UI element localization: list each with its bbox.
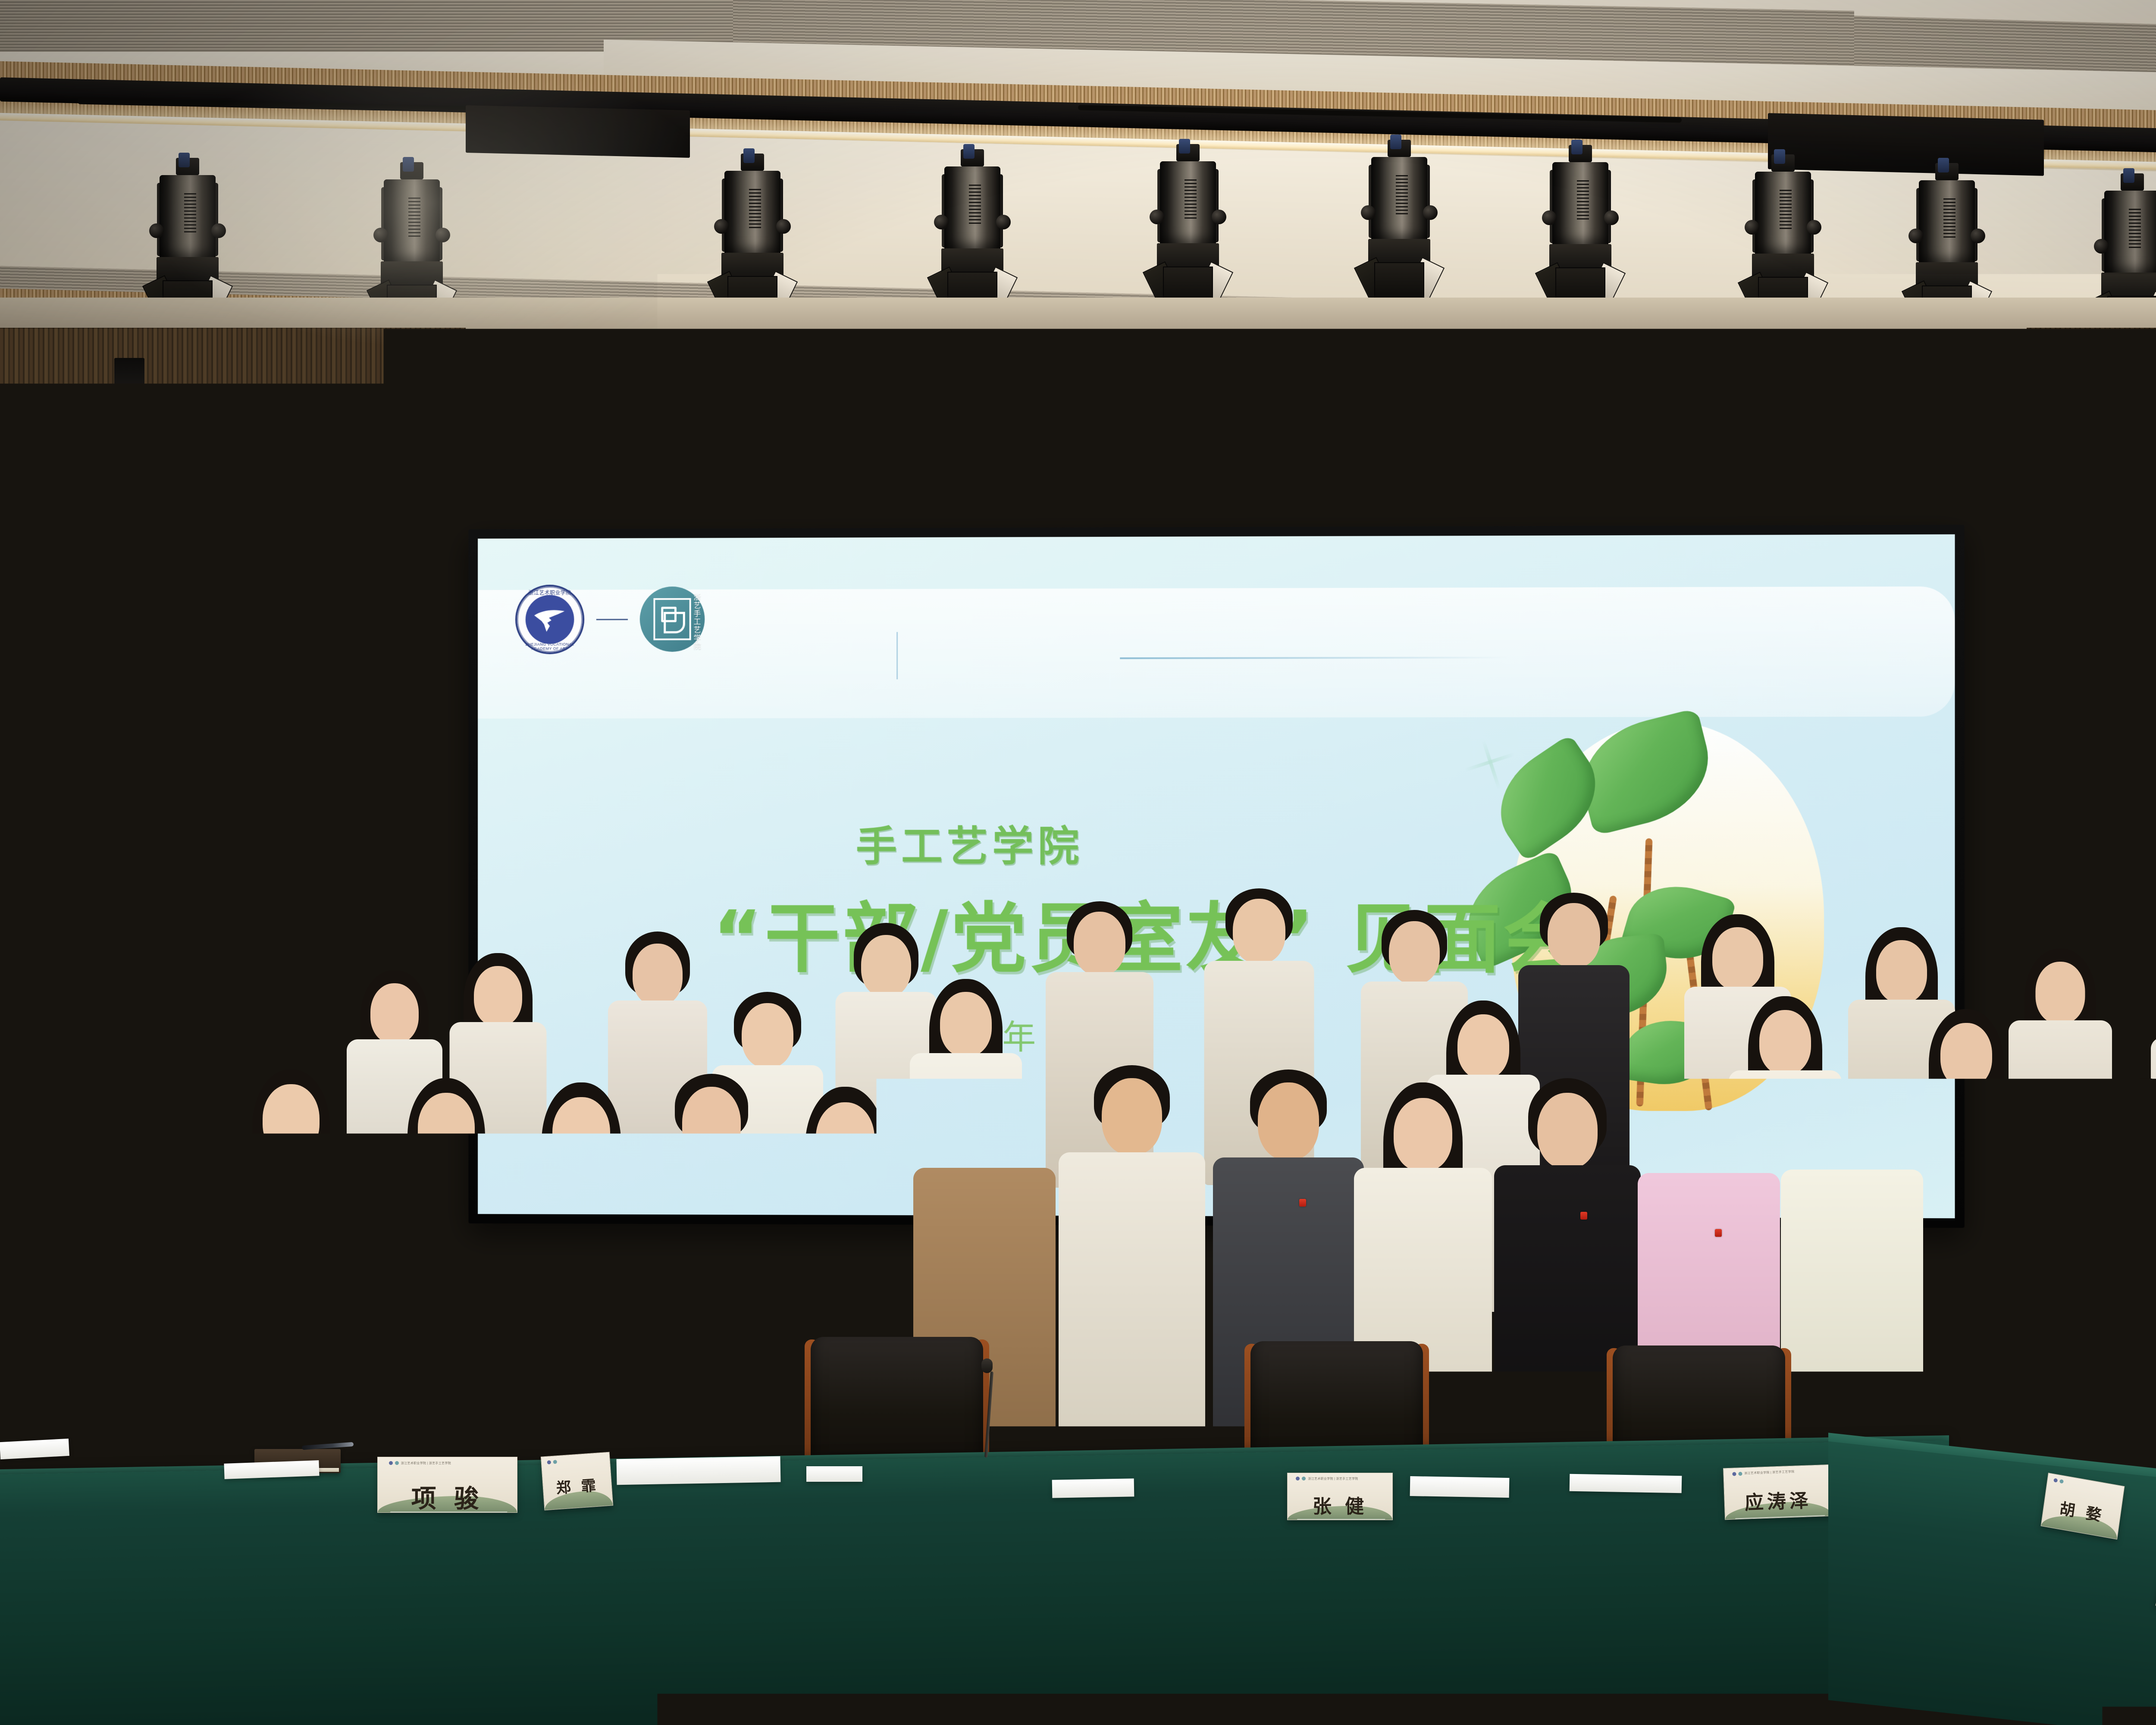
document-sheet[interactable] [806,1466,862,1482]
power-plug-icon [1774,149,1785,164]
party-emblem-pin [1580,1212,1587,1220]
nameplate: 浙江艺术职业学院 | 浙艺手工艺学院 项 骏 [377,1457,517,1513]
handicrafts-logo-icon [1302,1477,1306,1480]
power-plug-icon [179,153,190,167]
document-sheet[interactable] [0,1439,69,1459]
speaker-top [65,388,194,440]
logo-connector [596,619,628,620]
light-tilt-knob [1604,210,1619,225]
nameplate-org: 浙江艺术职业学院 | 浙艺手工艺学院 [401,1461,451,1465]
light-tilt-knob [1423,205,1438,220]
light-body [724,171,780,255]
nameplate-logo-row: 浙江艺术职业学院 | 浙艺手工艺学院 [389,1461,451,1465]
light-tilt-knob [211,223,226,238]
speaker-module [65,555,194,592]
nameplate-logo-row: 浙江艺术职业学院 | 浙艺手工艺学院 [1732,1470,1794,1476]
speaker-cone-icon [132,485,191,509]
nameplate-name: 张 健 [1288,1491,1392,1518]
speaker-module [65,440,194,477]
speaker-cone-icon [132,446,191,470]
light-body [1552,162,1608,247]
power-plug-icon [1390,135,1401,149]
barn-door [1374,262,1424,299]
handicrafts-logo-icon [2059,1479,2064,1483]
light-tilt-knob [934,215,949,229]
handicrafts-seal-icon [653,598,691,640]
light-vents [969,185,981,226]
light-vents [749,189,761,230]
light-body [1755,172,1811,256]
microphone-head[interactable] [981,1358,993,1373]
nameplate: 浙江艺术职业学院 | 浙艺手工艺学院 张 健 [1287,1473,1393,1520]
light-clamp [1771,154,1795,172]
academy-logo-icon [389,1461,393,1465]
light-body [1371,157,1427,241]
light-vents [1185,179,1197,221]
academy-logo: 浙江艺术职业学院 ZHEJIANG VOCATIONAL ACADEMY OF … [515,585,584,654]
light-clamp [741,154,764,171]
slide-subtitle: 手工艺学院 [478,812,1465,872]
conference-chair[interactable] [405,1333,578,1475]
light-vents [184,193,196,235]
light-tilt-knob [776,219,791,234]
power-plug-icon [403,157,414,172]
document-sheet[interactable] [1570,1474,1682,1493]
light-vents [1780,190,1792,231]
light-vents [2129,209,2141,250]
person [660,1074,763,1462]
handicrafts-logo-cn: 浙艺手工艺学院 [692,593,700,650]
light-body [2104,191,2156,275]
party-emblem-pin [1715,1229,1722,1237]
light-tilt-knob [1807,220,1821,235]
speaker-mount [114,358,144,392]
handicrafts-logo-icon [395,1461,399,1465]
handicrafts-logo-icon [1738,1472,1742,1476]
document-sheet[interactable] [1052,1478,1134,1498]
nameplate: 浙江艺术职业学院 | 浙艺手工艺学院 应涛泽 [1723,1465,1833,1520]
light-tilt-knob [1745,220,1759,235]
speaker-cone-icon [132,561,191,586]
light-tilt-knob [1971,229,1985,243]
nameplate-logo-row: 浙江艺术职业学院 | 浙艺手工艺学院 [1296,1477,1358,1481]
power-plug-icon [963,144,975,159]
party-emblem-pin [1299,1199,1306,1207]
light-tilt-knob [436,228,450,242]
light-clamp [1569,145,1592,162]
slide-header-tick [896,632,898,680]
light-vents [408,198,420,239]
document-sheet[interactable] [1410,1476,1510,1498]
party-emblem-pin [720,1216,727,1224]
ceiling-equipment-box [466,105,690,158]
power-plug-icon [1938,158,1949,172]
light-body [1919,180,1975,265]
power-plug-icon [1179,139,1190,154]
light-tilt-knob [1361,205,1376,220]
light-tilt-knob [1908,229,1923,243]
speaker-cone-icon [67,446,127,470]
light-vents [1943,198,1955,240]
light-tilt-knob [714,219,729,234]
line-array-speaker-left [65,388,194,593]
light-body [384,179,440,264]
light-tilt-knob [1542,210,1557,225]
academy-logo-icon [2053,1478,2058,1482]
party-emblem-pin [587,1238,594,1245]
light-tilt-knob [1150,210,1164,224]
document-sheet[interactable] [224,1460,319,1479]
nameplate: 郑 霏 [541,1452,613,1511]
nameplate-logo-row [2053,1478,2064,1483]
light-vents [1577,180,1589,222]
person [2091,1078,2156,1479]
light-tilt-knob [1212,210,1226,224]
ceiling-equipment-box [1768,113,2044,176]
light-clamp [1176,144,1200,161]
person [241,1069,341,1458]
nameplate-org: 浙江艺术职业学院 | 浙艺手工艺学院 [1308,1477,1358,1481]
light-tilt-knob [996,215,1011,229]
nameplate-stand [387,1512,508,1513]
academy-logo-icon [1732,1472,1736,1476]
nameplate-name: 应涛泽 [1724,1484,1832,1516]
speaker-cone-icon [132,523,191,547]
speaker-cone-icon [67,523,127,547]
person [1798,1082,1906,1471]
person [1949,1091,2057,1475]
light-body [160,175,216,260]
power-plug-icon [2123,168,2134,183]
crane-bird-icon [530,599,570,640]
light-vents [1396,175,1408,216]
light-body [944,166,1000,251]
light-clamp [400,162,423,179]
auditorium-group-photo: 浙江艺术职业学院 ZHEJIANG VOCATIONAL ACADEMY OF … [0,0,2156,1725]
conference-chair[interactable] [65,1328,237,1471]
speaker-cone-icon [67,485,127,509]
speaker-cone-icon [67,561,127,586]
light-clamp [961,149,984,166]
document-stack[interactable] [617,1456,781,1485]
power-plug-icon [743,148,755,163]
light-tilt-knob [373,228,388,242]
slide-logos: 浙江艺术职业学院 ZHEJIANG VOCATIONAL ACADEMY OF … [515,584,705,654]
speaker-module [65,478,194,515]
nameplate-logo-row [547,1460,557,1465]
speaker-module [65,517,194,554]
handicrafts-logo-icon [553,1460,557,1464]
academy-logo-icon [1296,1477,1300,1480]
handicrafts-logo: 浙艺手工艺学院 [640,586,705,652]
light-clamp [176,158,199,175]
light-tilt-knob [2094,239,2109,254]
academy-logo-icon [547,1460,551,1465]
light-tilt-knob [149,223,164,238]
nameplate-org: 浙江艺术职业学院 | 浙艺手工艺学院 [1744,1470,1794,1476]
person [1514,1078,1621,1471]
power-plug-icon [1571,140,1583,154]
light-clamp [1935,163,1959,180]
nameplate-stand [1294,1519,1385,1520]
light-body [1160,161,1216,246]
person [1078,1065,1186,1466]
light-clamp [1388,140,1411,157]
nameplate-name: 项 骏 [378,1478,517,1513]
light-clamp [2121,173,2144,191]
